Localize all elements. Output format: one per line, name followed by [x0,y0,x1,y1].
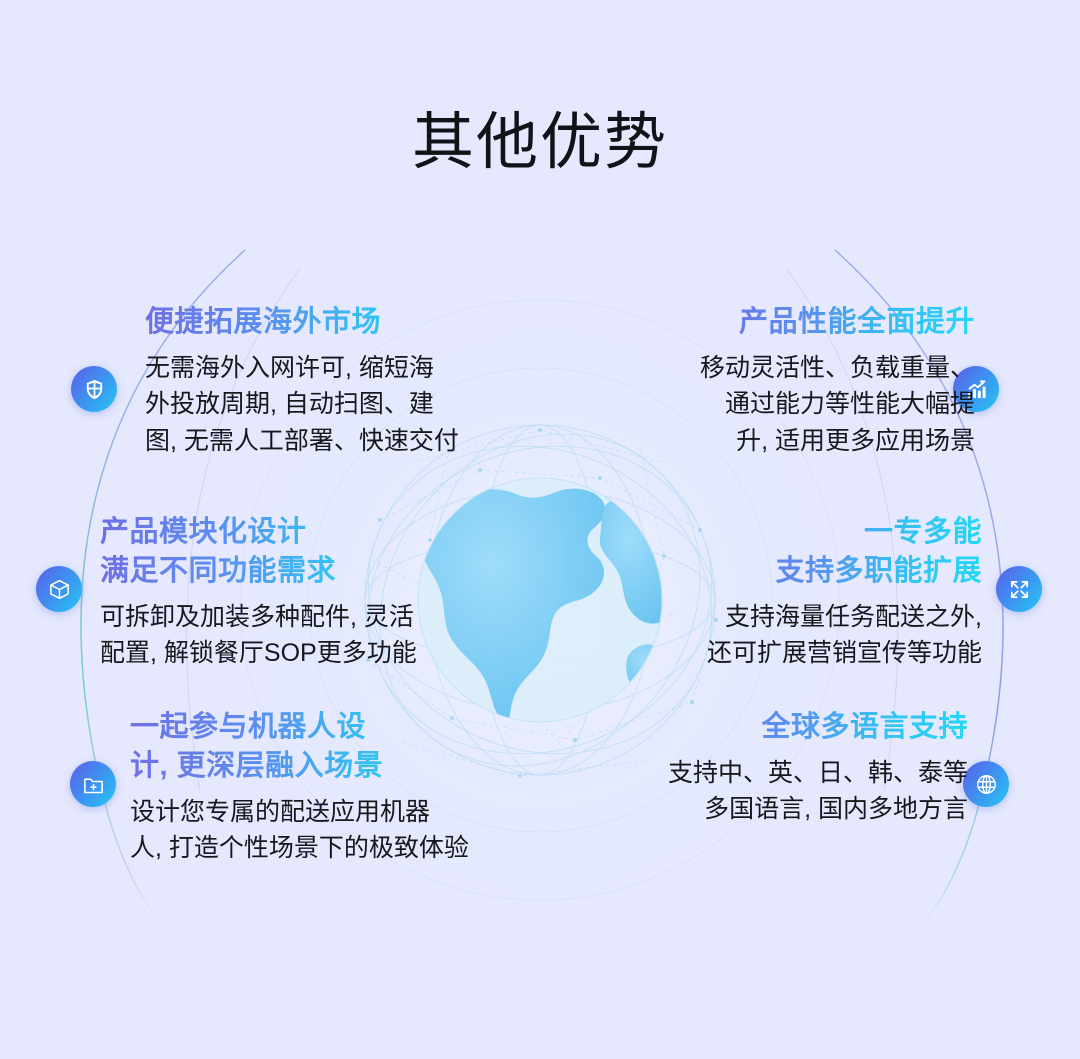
cube-icon [48,578,71,601]
feature-body-line: 图, 无需人工部署、快速交付 [145,427,459,455]
badge-shield[interactable] [71,366,117,412]
feature-heading-second: 计, 更深层融入场景 [130,747,469,786]
feature-body-line: 无需海外入网许可, 缩短海 [145,354,434,382]
feature-heading: 产品性能全面提升 [700,303,975,342]
feature-body-line: 设计您专属的配送应用机器 [130,798,430,826]
feature-body: 移动灵活性、负载重量、 通过能力等性能大幅提 升, 适用更多应用场景 [700,350,975,460]
badge-globe[interactable] [963,761,1009,807]
feature-heading-second: 支持多职能扩展 [707,552,982,591]
feature-block-overseas: 便捷拓展海外市场 无需海外入网许可, 缩短海 外投放周期, 自动扫图、建 图, … [145,303,459,459]
page-title: 其他优势 [0,108,1080,177]
feature-heading: 一专多能 [707,513,982,552]
feature-body: 支持海量任务配送之外, 还可扩展营销宣传等功能 [707,599,982,672]
feature-body-line: 可拆卸及加装多种配件, 灵活 [100,603,414,631]
feature-body-line: 支持海量任务配送之外, [725,603,982,631]
feature-body-line: 还可扩展营销宣传等功能 [707,639,982,667]
feature-heading: 全球多语言支持 [668,708,968,747]
feature-body: 设计您专属的配送应用机器 人, 打造个性场景下的极致体验 [130,794,469,867]
feature-body-line: 通过能力等性能大幅提 [725,390,975,418]
feature-heading: 便捷拓展海外市场 [145,303,459,342]
badge-expand-arrows[interactable] [996,566,1042,612]
feature-body-line: 多国语言, 国内多地方言 [704,795,968,823]
feature-body-line: 配置, 解锁餐厅SOP更多功能 [100,639,417,667]
feature-heading: 产品模块化设计 [100,513,417,552]
badge-folder-plus[interactable] [70,761,116,807]
feature-body: 支持中、英、日、韩、泰等 多国语言, 国内多地方言 [668,755,968,828]
globe-icon [975,773,998,796]
infographic-canvas: 其他优势 [0,0,1080,1059]
feature-body: 可拆卸及加装多种配件, 灵活 配置, 解锁餐厅SOP更多功能 [100,599,417,672]
folder-plus-icon [82,773,105,796]
feature-body-line: 人, 打造个性场景下的极致体验 [130,834,469,862]
feature-block-performance: 产品性能全面提升 移动灵活性、负载重量、 通过能力等性能大幅提 升, 适用更多应… [700,303,975,459]
feature-body-line: 支持中、英、日、韩、泰等 [668,759,968,787]
shield-icon [83,378,106,401]
feature-block-multifunction: 一专多能 支持多职能扩展 支持海量任务配送之外, 还可扩展营销宣传等功能 [707,513,982,672]
feature-block-codesign: 一起参与机器人设 计, 更深层融入场景 设计您专属的配送应用机器 人, 打造个性… [130,708,469,867]
feature-heading: 一起参与机器人设 [130,708,469,747]
feature-body-line: 升, 适用更多应用场景 [736,427,975,455]
feature-block-multilingual: 全球多语言支持 支持中、英、日、韩、泰等 多国语言, 国内多地方言 [668,708,968,828]
feature-body-line: 移动灵活性、负载重量、 [700,354,975,382]
feature-block-modular: 产品模块化设计 满足不同功能需求 可拆卸及加装多种配件, 灵活 配置, 解锁餐厅… [100,513,417,672]
badge-cube[interactable] [36,566,82,612]
expand-arrows-icon [1008,578,1031,601]
feature-body-line: 外投放周期, 自动扫图、建 [145,390,434,418]
feature-body: 无需海外入网许可, 缩短海 外投放周期, 自动扫图、建 图, 无需人工部署、快速… [145,350,459,460]
feature-heading-second: 满足不同功能需求 [100,552,417,591]
